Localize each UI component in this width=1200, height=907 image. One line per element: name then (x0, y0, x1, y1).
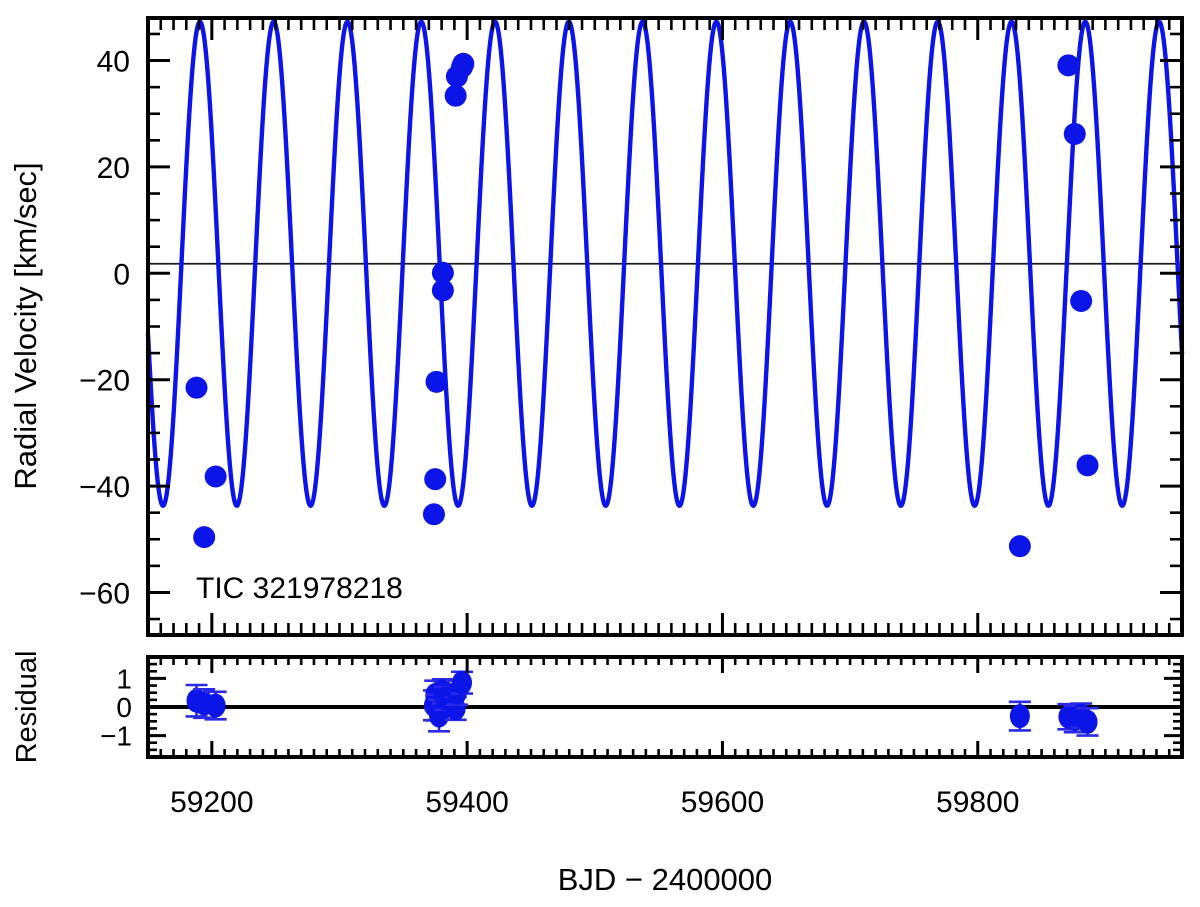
x-tick-label: 59200 (170, 786, 253, 819)
rv-data-point (1077, 454, 1099, 476)
y-tick-label: 20 (97, 152, 130, 185)
rv-data-point (205, 465, 227, 487)
y-tick-label: −60 (79, 577, 130, 610)
rv-data-point (1009, 535, 1031, 557)
y-tick-label: −20 (79, 365, 130, 398)
rv-data-point (432, 262, 454, 284)
plot-canvas: 40200−20−40−60 10−1 59200594005960059800… (0, 0, 1200, 907)
target-id-annotation: TIC 321978218 (196, 572, 403, 605)
radial-velocity-figure: 40200−20−40−60 10−1 59200594005960059800… (0, 0, 1200, 907)
residual-data-point (452, 671, 472, 695)
residual-y-tick-label: 0 (116, 692, 132, 723)
x-tick-label: 59400 (425, 786, 508, 819)
rv-data-point (423, 503, 445, 525)
y-tick-label: 40 (97, 46, 130, 79)
y-axis-title-main: Radial Velocity [km/sec] (8, 162, 43, 489)
rv-data-point (445, 85, 467, 107)
x-tick-label: 59600 (681, 786, 764, 819)
rv-data-point (1070, 290, 1092, 312)
y-tick-label: −40 (79, 471, 130, 504)
residual-data-point (1078, 710, 1098, 734)
rv-data-point (186, 377, 208, 399)
y-tick-label: 0 (113, 258, 130, 291)
rv-data-point (1064, 123, 1086, 145)
residual-data-point (1010, 704, 1030, 728)
rv-data-point (1057, 54, 1079, 76)
rv-data-point (424, 468, 446, 490)
rv-data-point (193, 526, 215, 548)
y-axis-title-residual: Residual (11, 651, 43, 764)
residual-y-tick-label: −1 (100, 721, 132, 752)
residual-y-tick-label: 1 (116, 663, 132, 694)
residual-data-point (206, 694, 226, 718)
x-axis-title: BJD − 2400000 (558, 862, 773, 897)
x-tick-label: 59800 (936, 786, 1019, 819)
rv-data-point (426, 371, 448, 393)
rv-data-point (452, 53, 474, 75)
